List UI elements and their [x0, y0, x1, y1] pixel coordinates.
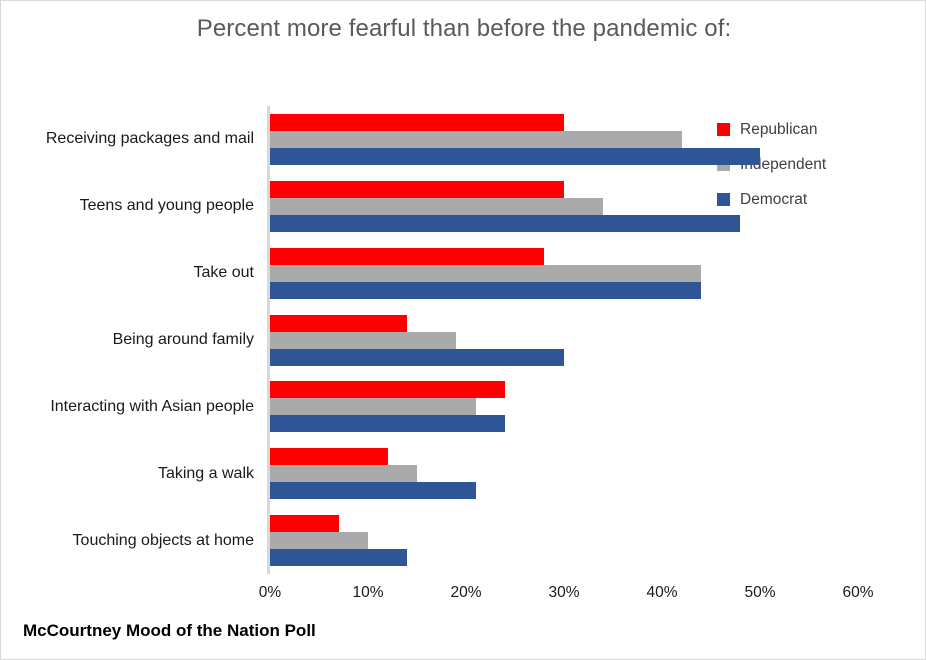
bar-group	[270, 381, 858, 432]
bar-democrat[interactable]	[270, 148, 760, 165]
category-label: Take out	[194, 265, 254, 281]
category-label: Receiving packages and mail	[46, 131, 254, 147]
bar-democrat[interactable]	[270, 482, 476, 499]
bar-independent[interactable]	[270, 265, 701, 282]
x-tick-label: 60%	[842, 584, 873, 602]
category-axis-labels: Receiving packages and mailTeens and you…	[1, 106, 270, 574]
bar-group	[270, 248, 858, 299]
bar-independent[interactable]	[270, 198, 603, 215]
x-tick-label: 40%	[646, 584, 677, 602]
bar-democrat[interactable]	[270, 349, 564, 366]
category-label: Taking a walk	[158, 466, 254, 482]
category-label: Interacting with Asian people	[50, 399, 254, 415]
bar-democrat[interactable]	[270, 215, 740, 232]
bar-independent[interactable]	[270, 532, 368, 549]
x-tick-label: 10%	[352, 584, 383, 602]
x-tick-label: 20%	[450, 584, 481, 602]
bar-republican[interactable]	[270, 315, 407, 332]
category-label: Being around family	[113, 332, 254, 348]
bar-group	[270, 114, 858, 165]
x-tick-label: 30%	[548, 584, 579, 602]
category-label: Touching objects at home	[73, 533, 254, 549]
plot-area	[270, 106, 858, 574]
bar-republican[interactable]	[270, 114, 564, 131]
bar-independent[interactable]	[270, 465, 417, 482]
bar-democrat[interactable]	[270, 549, 407, 566]
chart-title: Percent more fearful than before the pan…	[1, 15, 926, 43]
bar-independent[interactable]	[270, 131, 682, 148]
bar-republican[interactable]	[270, 515, 339, 532]
x-tick-label: 50%	[744, 584, 775, 602]
source-note: McCourtney Mood of the Nation Poll	[23, 621, 316, 641]
bar-democrat[interactable]	[270, 282, 701, 299]
bar-group	[270, 515, 858, 566]
x-tick-label: 0%	[259, 584, 281, 602]
bar-republican[interactable]	[270, 181, 564, 198]
bar-republican[interactable]	[270, 248, 544, 265]
category-label: Teens and young people	[80, 198, 254, 214]
bar-group	[270, 448, 858, 499]
bar-group	[270, 181, 858, 232]
bar-independent[interactable]	[270, 332, 456, 349]
bar-group	[270, 315, 858, 366]
bar-republican[interactable]	[270, 448, 388, 465]
bar-chart-figure: Percent more fearful than before the pan…	[0, 0, 926, 660]
bar-republican[interactable]	[270, 381, 505, 398]
bar-independent[interactable]	[270, 398, 476, 415]
value-axis-labels: 0%10%20%30%40%50%60%	[270, 584, 858, 608]
bar-democrat[interactable]	[270, 415, 505, 432]
